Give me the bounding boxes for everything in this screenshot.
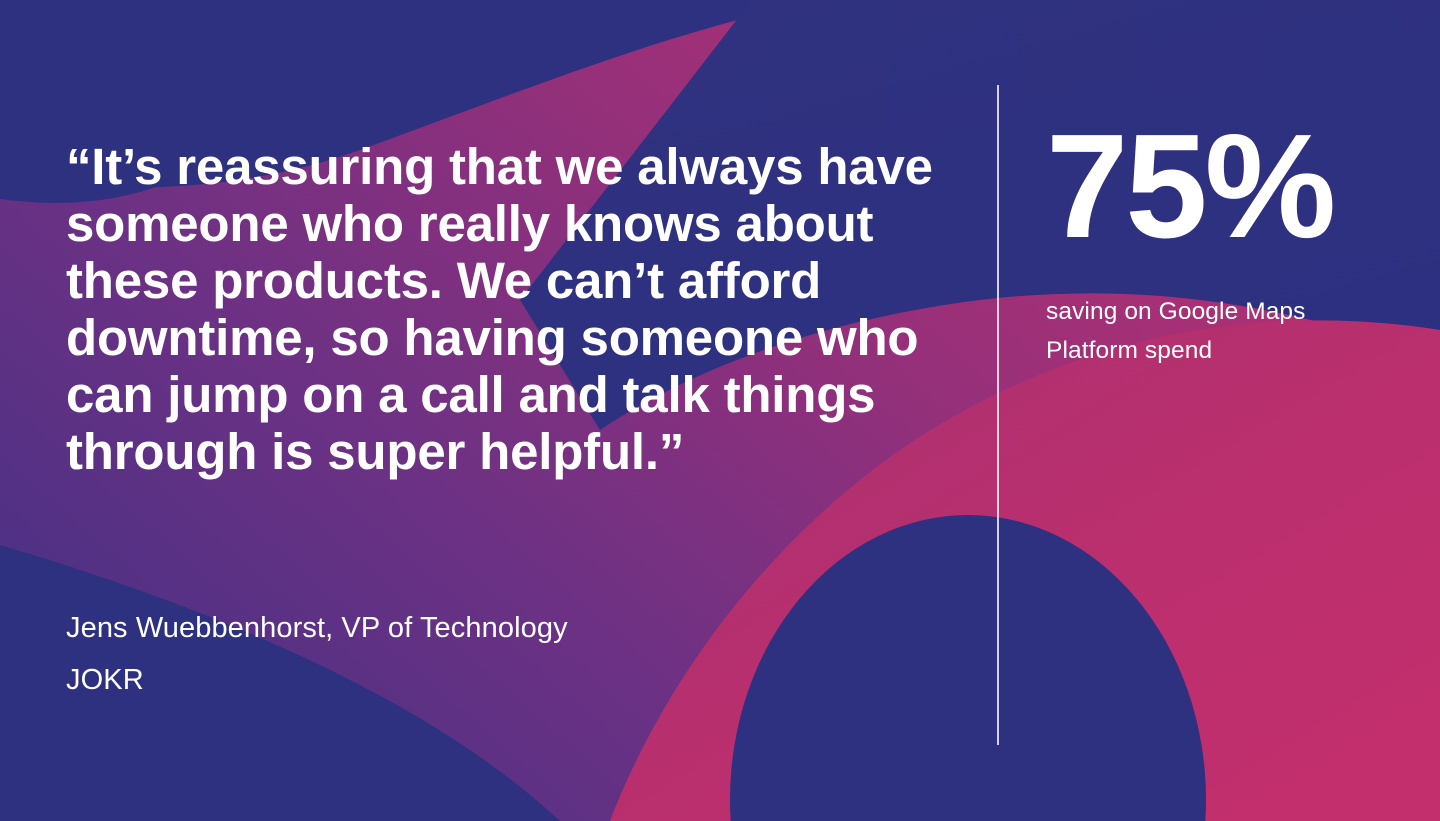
stat-block: 75% saving on Google Maps Platform spend [1046, 120, 1406, 370]
slide-content: “It’s reassuring that we always have som… [0, 0, 1440, 821]
quote-text: “It’s reassuring that we always have som… [66, 138, 946, 480]
attribution-block: Jens Wuebbenhorst, VP of Technology JOKR [66, 602, 946, 706]
quote-block: “It’s reassuring that we always have som… [66, 138, 946, 480]
attribution-name: Jens Wuebbenhorst, VP of Technology [66, 602, 946, 654]
stat-value: 75% [1046, 120, 1406, 254]
testimonial-slide: “It’s reassuring that we always have som… [0, 0, 1440, 821]
stat-label: saving on Google Maps Platform spend [1046, 254, 1406, 370]
attribution-company: JOKR [66, 654, 946, 706]
vertical-divider [997, 85, 999, 745]
